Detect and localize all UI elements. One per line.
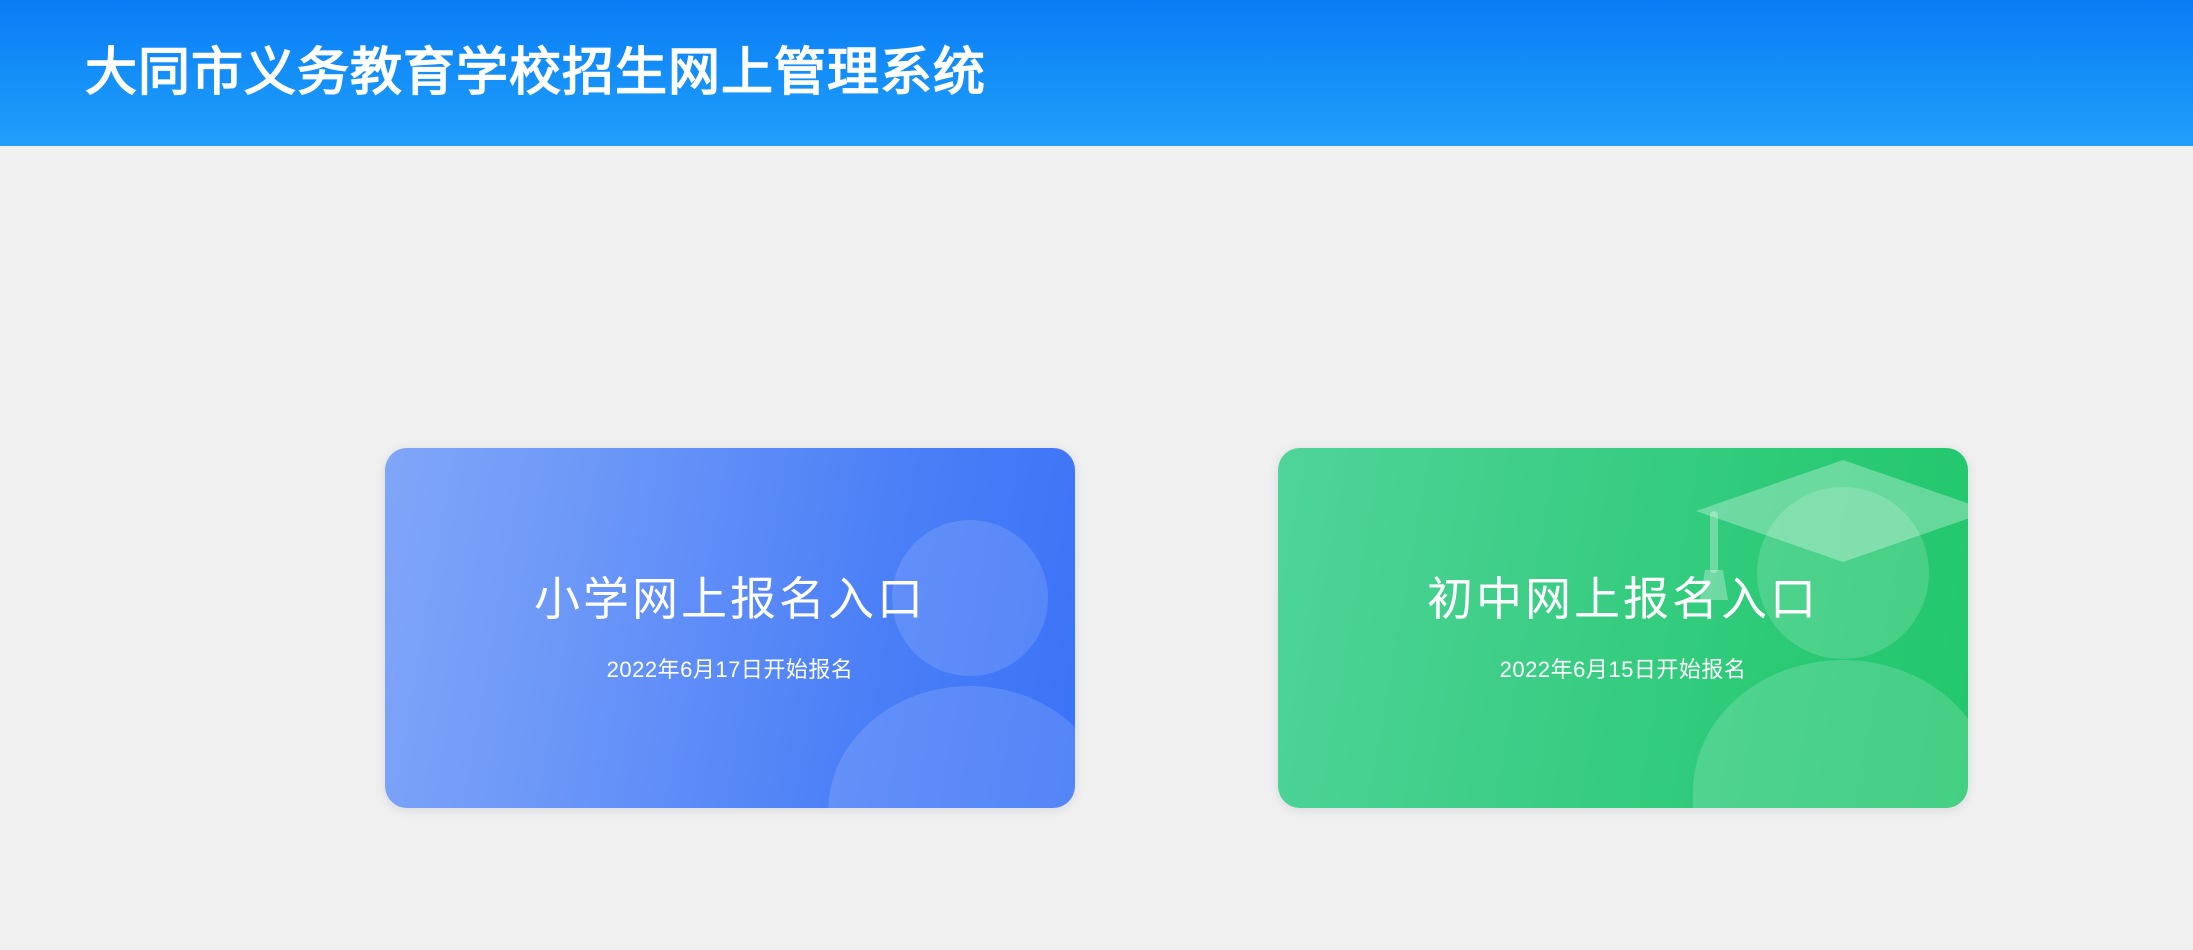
entry-card-list: 小学网上报名入口 2022年6月17日开始报名 初中网上报名入口 2022年6月 [385, 448, 1968, 808]
entry-card-junior-high-school[interactable]: 初中网上报名入口 2022年6月15日开始报名 [1278, 448, 1968, 808]
main-content: 小学网上报名入口 2022年6月17日开始报名 初中网上报名入口 2022年6月 [0, 146, 2193, 950]
entry-card-title: 初中网上报名入口 [1427, 572, 1819, 627]
entry-card-title: 小学网上报名入口 [534, 572, 926, 627]
entry-card-date: 2022年6月17日开始报名 [607, 657, 854, 683]
entry-card-primary-school[interactable]: 小学网上报名入口 2022年6月17日开始报名 [385, 448, 1075, 808]
page-title: 大同市义务教育学校招生网上管理系统 [85, 47, 986, 99]
site-header: 大同市义务教育学校招生网上管理系统 [0, 0, 2193, 146]
entry-card-body: 小学网上报名入口 2022年6月17日开始报名 [385, 448, 1075, 808]
entry-card-body: 初中网上报名入口 2022年6月15日开始报名 [1278, 448, 1968, 808]
entry-card-date: 2022年6月15日开始报名 [1500, 657, 1747, 683]
